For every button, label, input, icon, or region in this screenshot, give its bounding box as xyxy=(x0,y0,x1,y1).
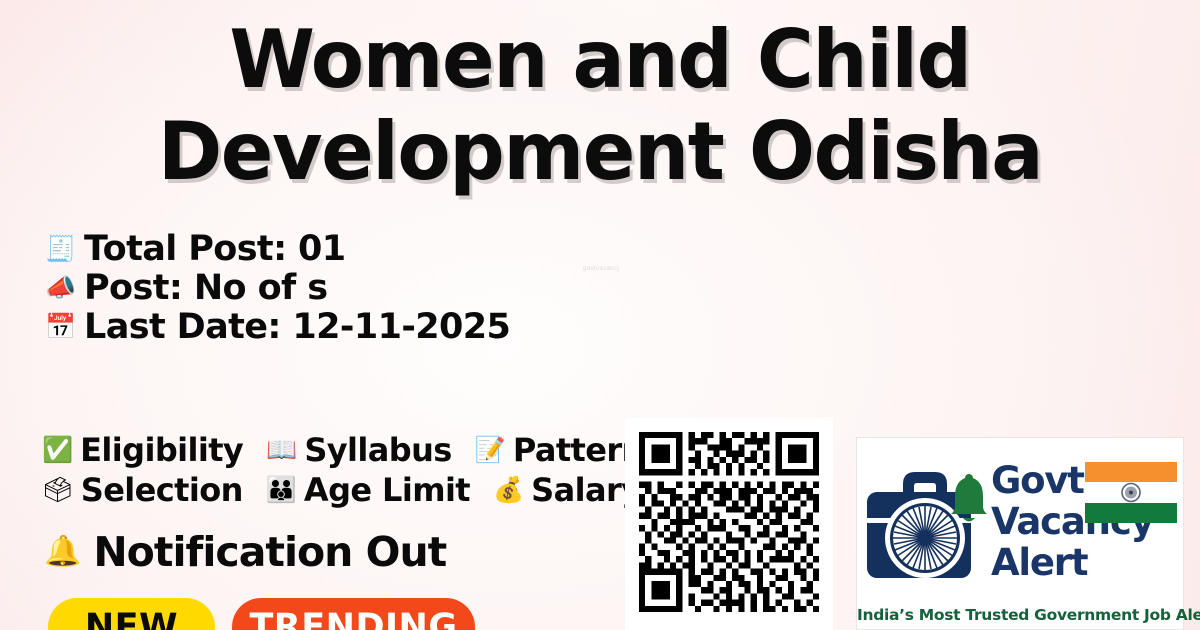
tag-eligibility: ✅ Eligibility xyxy=(42,431,243,469)
tag-pattern: 📝 Pattern xyxy=(475,431,642,469)
brand-logo-main: Govt Vacancy Alert xyxy=(857,452,1185,590)
brand-word-alert: Alert xyxy=(991,542,1185,583)
info-row-total-post: 🧾 Total Post: 01 xyxy=(44,230,510,268)
tag-selection-label: Selection xyxy=(81,471,243,509)
feature-tag-row-2: 🗳 Selection 👪 Age Limit 💰 Salary xyxy=(42,470,642,510)
tag-eligibility-label: Eligibility xyxy=(80,431,243,469)
qr-code-icon[interactable] xyxy=(639,432,819,612)
tag-syllabus: 📖 Syllabus xyxy=(266,431,452,469)
tag-pattern-label: Pattern xyxy=(513,431,642,469)
india-flag-icon xyxy=(1085,462,1177,523)
money-bag-icon: 💰 xyxy=(493,478,524,503)
tag-age-limit: 👪 Age Limit xyxy=(266,471,470,509)
feature-tag-row-1: ✅ Eligibility 📖 Syllabus 📝 Pattern xyxy=(42,430,642,470)
family-people-icon: 👪 xyxy=(266,478,297,503)
selection-ballot-icon: 🗳 xyxy=(42,478,74,503)
info-total-post-label: Total Post: 01 xyxy=(84,230,346,268)
watermark-text: govtvacancyalert xyxy=(583,266,619,272)
title-line-1: Women and Child xyxy=(18,14,1182,106)
info-last-date-label: Last Date: 12-11-2025 xyxy=(84,308,510,346)
brand-tagline: India’s Most Trusted Government Job Aler… xyxy=(857,606,1185,624)
tag-selection: 🗳 Selection xyxy=(42,471,243,509)
brand-logo-panel[interactable]: Govt Vacancy Alert India’s Most Trusted … xyxy=(856,437,1184,630)
info-row-last-date: 📅 Last Date: 12-11-2025 xyxy=(44,308,510,346)
notification-status: 🔔 Notification Out xyxy=(44,528,446,576)
badge-trending: TRENDING xyxy=(232,598,475,630)
announcement-new-icon: 📣 xyxy=(44,276,78,301)
qr-code-panel[interactable] xyxy=(625,418,833,630)
tag-salary: 💰 Salary xyxy=(493,471,641,509)
brand-wordmark: Govt Vacancy Alert xyxy=(991,460,1185,583)
info-row-post: 📣 Post: No of s xyxy=(44,269,510,307)
open-book-icon: 📖 xyxy=(266,438,297,463)
exam-paper-icon: 📝 xyxy=(475,438,506,463)
check-mark-icon: ✅ xyxy=(42,438,73,463)
bell-notification-icon: 🔔 xyxy=(44,537,81,567)
badge-row: NEW TRENDING xyxy=(48,598,475,630)
notification-label: Notification Out xyxy=(93,528,446,576)
poster-canvas: Women and Child Development Odisha 🧾 Tot… xyxy=(0,0,1200,630)
briefcase-chakra-bell-icon xyxy=(863,456,987,586)
feature-tags: ✅ Eligibility 📖 Syllabus 📝 Pattern 🗳 Sel… xyxy=(42,430,642,510)
vacancy-summary: 🧾 Total Post: 01 📣 Post: No of s 📅 Last … xyxy=(44,230,510,347)
tag-age-limit-label: Age Limit xyxy=(304,471,470,509)
title-line-2: Development Odisha xyxy=(18,106,1182,198)
info-post-label: Post: No of s xyxy=(84,269,327,307)
page-title: Women and Child Development Odisha xyxy=(0,14,1200,198)
tag-syllabus-label: Syllabus xyxy=(304,431,451,469)
job-document-search-icon: 🧾 xyxy=(44,237,78,262)
calendar-icon: 📅 xyxy=(44,315,78,340)
badge-new: NEW xyxy=(48,598,215,630)
